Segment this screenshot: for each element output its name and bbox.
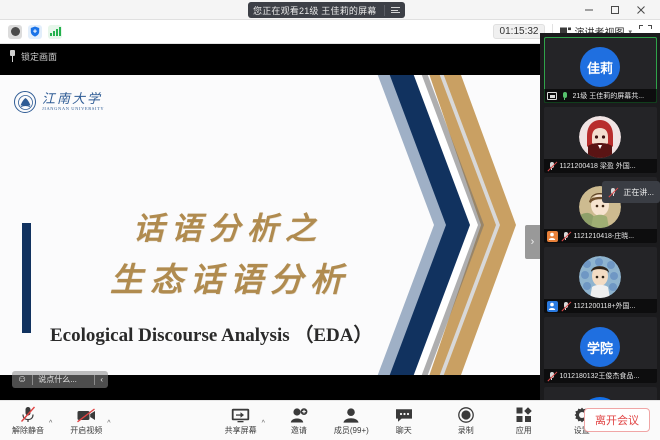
participants-button[interactable]: 成员(99+) xyxy=(331,406,372,436)
participant-tile[interactable]: 1121200418 梁盈 外国... xyxy=(544,107,657,173)
participant-label-bar: 1121210418-庄晓... xyxy=(544,229,657,243)
share-screen-label: 共享屏幕 xyxy=(225,425,257,436)
close-icon[interactable] xyxy=(628,0,654,20)
avatar xyxy=(579,116,621,158)
participant-name: 1121200418 梁盈 外国... xyxy=(560,161,636,171)
user-badge-icon xyxy=(547,231,558,242)
participant-tile[interactable]: 1121200118+外国... xyxy=(544,247,657,313)
share-screen-button[interactable]: 共享屏幕 xyxy=(221,406,261,436)
slide-title-line2: 生态话语分析 xyxy=(110,253,350,301)
speaking-tooltip: 正在讲... xyxy=(602,181,660,203)
maximize-icon[interactable] xyxy=(602,0,628,20)
collapse-chat-icon[interactable]: ‹ xyxy=(100,375,103,384)
avatar xyxy=(579,256,621,298)
emoji-icon[interactable]: ☺ xyxy=(17,375,27,385)
university-name-en: JIANGNAN UNIVERSITY xyxy=(42,107,104,112)
meeting-controls-toolbar: 解除静音 ^ 开启视频 ^ xyxy=(0,400,660,440)
avatar-initials: 学院 xyxy=(587,338,613,357)
window-controls xyxy=(576,0,654,20)
invite-icon xyxy=(290,406,308,423)
slide-chat-input-bar[interactable]: ☺ 说点什么... ‹ xyxy=(12,371,108,388)
slide-subtitle-en: Ecological Discourse Analysis （EDA） xyxy=(50,320,372,347)
apps-button[interactable]: 应用 xyxy=(504,406,544,436)
screen-share-notice-text: 您正在观看21级 王佳莉的屏幕 xyxy=(253,4,377,17)
hamburger-icon[interactable] xyxy=(384,5,400,16)
participant-tile[interactable]: 佳莉 21级 王佳莉的屏幕共... xyxy=(544,37,657,103)
shield-icon[interactable] xyxy=(28,25,42,39)
start-video-button[interactable]: 开启视频 xyxy=(66,406,106,436)
divider xyxy=(32,375,33,385)
user-badge-icon xyxy=(547,301,558,312)
participant-label-bar: 1121200118+外国... xyxy=(544,299,657,313)
minimize-icon[interactable] xyxy=(576,0,602,20)
participant-filmstrip[interactable]: 佳莉 21级 王佳莉的屏幕共... xyxy=(540,33,660,400)
apps-label: 应用 xyxy=(516,425,532,436)
participant-tile[interactable]: 学院 xyxy=(544,387,657,400)
speaking-tooltip-text: 正在讲... xyxy=(623,187,654,198)
info-icon[interactable] xyxy=(8,25,22,39)
mic-muted-icon xyxy=(20,406,36,423)
mic-muted-icon xyxy=(608,187,618,197)
record-label: 录制 xyxy=(458,425,474,436)
participant-label-bar: 1012180132王俊杰食品... xyxy=(544,369,657,383)
leave-meeting-button[interactable]: 离开会议 xyxy=(584,408,650,432)
share-options-caret[interactable]: ^ xyxy=(262,420,265,427)
start-video-label: 开启视频 xyxy=(70,425,102,436)
zoom-meeting-window: 您正在观看21级 王佳莉的屏幕 01:15:32 xyxy=(0,0,660,440)
participant-label-bar: 1121200418 梁盈 外国... xyxy=(544,159,657,173)
record-icon xyxy=(458,406,474,423)
participant-name: 21级 王佳莉的屏幕共... xyxy=(573,91,645,101)
chat-button[interactable]: 聊天 xyxy=(384,406,424,436)
screen-share-icon xyxy=(547,92,557,100)
signal-icon[interactable] xyxy=(48,25,62,39)
participant-tile[interactable]: 学院 1012180132王俊杰食品... xyxy=(544,317,657,383)
mic-options-caret[interactable]: ^ xyxy=(49,420,52,427)
shared-screen-stage: 锁定画面 xyxy=(0,44,540,400)
mic-muted-icon xyxy=(561,301,571,311)
avatar: 学院 xyxy=(580,327,620,367)
participant-name: 1121200118+外国... xyxy=(574,301,636,311)
slide-title-line1: 话语分析之 xyxy=(133,203,323,248)
screen-share-notice[interactable]: 您正在观看21级 王佳莉的屏幕 xyxy=(248,2,405,18)
participants-label: 成员(99+) xyxy=(334,425,369,436)
university-logo: 江南大学 JIANGNAN UNIVERSITY xyxy=(14,91,104,113)
university-name-cn: 江南大学 xyxy=(42,92,104,105)
university-emblem-icon xyxy=(14,91,36,113)
status-icons xyxy=(0,25,62,39)
participants-icon xyxy=(342,406,360,423)
divider xyxy=(94,375,95,385)
window-title-bar: 您正在观看21级 王佳莉的屏幕 xyxy=(0,0,660,20)
record-button[interactable]: 录制 xyxy=(446,406,486,436)
mute-button[interactable]: 解除静音 xyxy=(8,406,48,436)
chat-label: 聊天 xyxy=(396,425,412,436)
next-slide-button[interactable]: › xyxy=(525,225,540,259)
invite-label: 邀请 xyxy=(291,425,307,436)
invite-button[interactable]: 邀请 xyxy=(279,406,319,436)
avatar-initials: 佳莉 xyxy=(587,58,613,77)
apps-icon xyxy=(516,406,532,423)
share-screen-icon xyxy=(231,406,250,423)
chat-input-placeholder[interactable]: 说点什么... xyxy=(38,374,89,385)
pin-icon xyxy=(8,50,17,62)
slide-decoration-chevrons xyxy=(370,75,540,375)
mute-button-label: 解除静音 xyxy=(12,425,44,436)
lock-screen-control[interactable]: 锁定画面 xyxy=(8,48,57,64)
mic-muted-icon xyxy=(561,231,571,241)
mic-muted-icon xyxy=(547,371,557,381)
mic-muted-icon xyxy=(547,161,557,171)
lock-screen-label: 锁定画面 xyxy=(21,50,57,63)
participant-name: 1121210418-庄晓... xyxy=(574,231,635,241)
mic-on-icon xyxy=(560,91,570,101)
video-off-icon xyxy=(77,406,96,423)
avatar: 佳莉 xyxy=(580,47,620,87)
chat-icon xyxy=(395,406,413,423)
video-options-caret[interactable]: ^ xyxy=(107,420,110,427)
participant-name: 1012180132王俊杰食品... xyxy=(560,371,640,381)
slide-accent-bar xyxy=(22,223,31,333)
meeting-timer: 01:15:32 xyxy=(493,24,546,39)
presentation-slide: 江南大学 JIANGNAN UNIVERSITY 话语分析之 生态话语分析 Ec… xyxy=(0,75,540,375)
participant-label-bar: 21级 王佳莉的屏幕共... xyxy=(544,89,657,103)
